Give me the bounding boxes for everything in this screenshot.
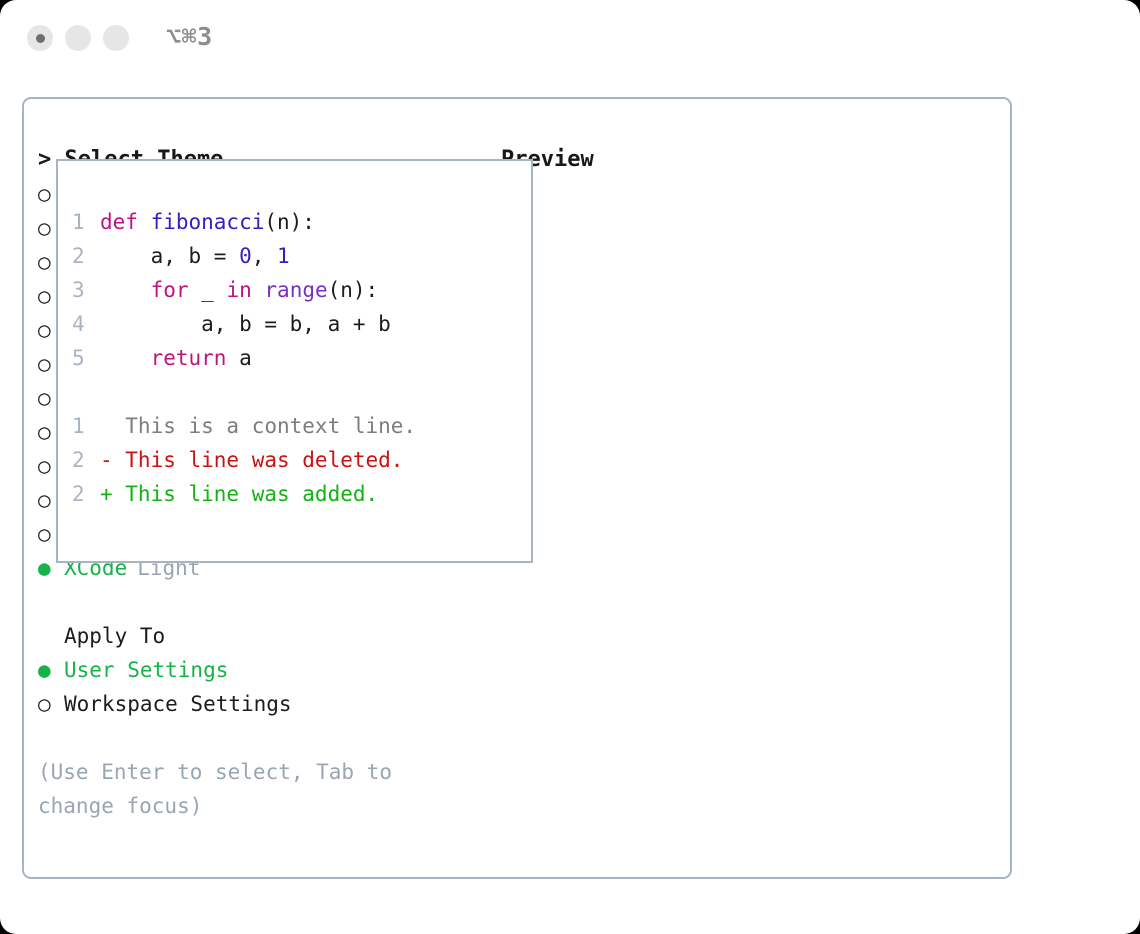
code-diff-separator: [72, 375, 525, 409]
diff-line-add: 2+ This line was added.: [72, 477, 525, 511]
code-token-kw: return: [151, 346, 227, 370]
traffic-light-zoom-icon[interactable]: [103, 25, 129, 51]
code-token-plain: [100, 278, 151, 302]
diff-line-del: 2- This line was deleted.: [72, 443, 525, 477]
list-spacer: [38, 585, 488, 619]
code-token-fn: fibonacci: [151, 210, 265, 234]
code-token-plain: _: [189, 278, 227, 302]
code-line-number: 1: [72, 205, 100, 239]
code-token-kw: for: [151, 278, 189, 302]
title-bar: ⌥⌘3: [0, 0, 1140, 76]
app-window: ⌥⌘3 > Select Theme ○ANSIDark○Atom OneDar…: [0, 0, 1140, 934]
code-token-builtin: range: [264, 278, 327, 302]
code-line-number: 2: [72, 239, 100, 273]
code-token-plain: (n):: [328, 278, 379, 302]
radio-unselected-icon: ○: [38, 687, 64, 721]
code-line-text: def fibonacci(n):: [100, 205, 315, 239]
code-token-kw: def: [100, 210, 151, 234]
main-panel: > Select Theme ○ANSIDark○Atom OneDark○Ay…: [22, 97, 1012, 879]
code-token-plain: a, b =: [100, 244, 239, 268]
code-token-plain: [100, 346, 151, 370]
code-token-plain: a, b = b, a + b: [100, 312, 391, 336]
apply-to-option-user-settings[interactable]: ●User Settings: [38, 653, 488, 687]
apply-to-header-bullet-spacer: ○: [38, 619, 64, 653]
preview-column: Preview: [501, 143, 1001, 177]
code-token-plain: (n):: [264, 210, 315, 234]
diff-line-text: - This line was deleted.: [100, 443, 403, 477]
code-token-num: 0: [239, 244, 252, 268]
preview-label: Preview: [501, 143, 1001, 177]
code-line: 2 a, b = 0, 1: [72, 239, 525, 273]
traffic-light-dot: [36, 34, 45, 43]
code-line-text: a, b = 0, 1: [100, 239, 290, 273]
code-line-text: return a: [100, 341, 252, 375]
code-token-plain: a: [226, 346, 251, 370]
code-line: 4 a, b = b, a + b: [72, 307, 525, 341]
code-line-text: for _ in range(n):: [100, 273, 378, 307]
code-line: 5 return a: [72, 341, 525, 375]
apply-to-option-label: Workspace Settings: [64, 687, 292, 721]
apply-to-option-workspace-settings[interactable]: ○Workspace Settings: [38, 687, 488, 721]
code-token-plain: ,: [252, 244, 277, 268]
window-title: ⌥⌘3: [166, 22, 213, 51]
code-token-kw: in: [226, 278, 251, 302]
preview-code-content: 1def fibonacci(n):2 a, b = 0, 13 for _ i…: [72, 205, 525, 511]
traffic-light-minimize-icon[interactable]: [65, 25, 91, 51]
code-sample: 1def fibonacci(n):2 a, b = 0, 13 for _ i…: [72, 205, 525, 375]
code-line-text: a, b = b, a + b: [100, 307, 391, 341]
diff-sample: 1 This is a context line.2- This line wa…: [72, 409, 525, 511]
apply-to-list: ●User Settings○Workspace Settings: [38, 653, 488, 721]
diff-line-number: 2: [72, 477, 100, 511]
apply-to-header-label: Apply To: [64, 619, 165, 653]
diff-line-number: 2: [72, 443, 100, 477]
preview-code-box: 1def fibonacci(n):2 a, b = 0, 13 for _ i…: [56, 159, 533, 563]
apply-to-header: ○ Apply To: [38, 619, 488, 653]
code-line: 3 for _ in range(n):: [72, 273, 525, 307]
window-controls: [27, 25, 129, 51]
radio-selected-icon: ●: [38, 653, 64, 687]
keyboard-hint: (Use Enter to select, Tab to change focu…: [38, 755, 448, 823]
traffic-light-close-icon[interactable]: [27, 25, 53, 51]
diff-line-text: This is a context line.: [100, 409, 416, 443]
code-token-num: 1: [277, 244, 290, 268]
diff-line-ctx: 1 This is a context line.: [72, 409, 525, 443]
code-line-number: 3: [72, 273, 100, 307]
code-line-number: 4: [72, 307, 100, 341]
diff-line-number: 1: [72, 409, 100, 443]
diff-line-text: + This line was added.: [100, 477, 378, 511]
apply-to-option-label: User Settings: [64, 653, 228, 687]
code-line: 1def fibonacci(n):: [72, 205, 525, 239]
code-token-plain: [252, 278, 265, 302]
code-line-number: 5: [72, 341, 100, 375]
